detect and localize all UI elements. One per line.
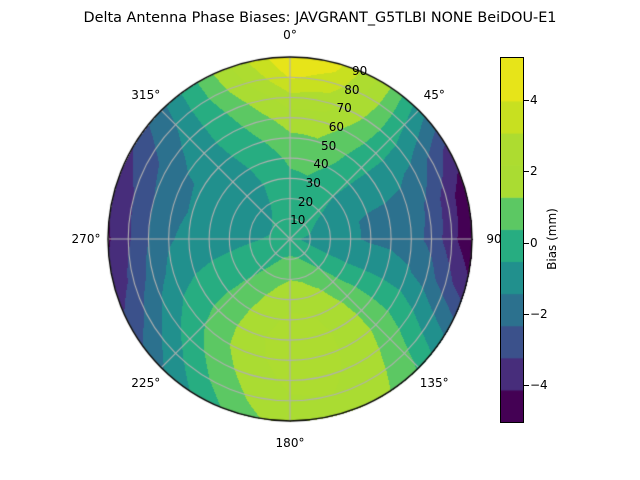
colorbar-tick-mark-3 — [523, 171, 529, 172]
radial-tick-10: 10 — [290, 213, 305, 227]
radial-tick-40: 40 — [313, 157, 328, 171]
colorbar-tick-label-4: 4 — [530, 93, 538, 107]
colorbar-axis-label: Bias (mm) — [545, 208, 559, 270]
colorbar-gradient — [500, 57, 524, 423]
angular-tick-0: 0° — [283, 28, 297, 42]
angular-tick-45: 45° — [424, 88, 445, 102]
angular-tick-225: 225° — [131, 376, 160, 390]
colorbar-tick-label-3: 2 — [530, 164, 538, 178]
angular-tick-135: 135° — [420, 376, 449, 390]
colorbar-tick-mark-2 — [523, 243, 529, 244]
colorbar-tick-mark-4 — [523, 100, 529, 101]
colorbar-tick-label-0: −4 — [530, 378, 548, 392]
angular-tick-270: 270° — [72, 232, 101, 246]
colorbar-tick-label-2: 0 — [530, 236, 538, 250]
radial-tick-70: 70 — [337, 101, 352, 115]
radial-tick-80: 80 — [344, 83, 359, 97]
radial-tick-30: 30 — [306, 176, 321, 190]
angular-tick-315: 315° — [131, 88, 160, 102]
radial-tick-60: 60 — [329, 120, 344, 134]
angular-tick-180: 180° — [276, 436, 305, 450]
polar-plot: 0°45°90135°180°225°270°315° 102030405060… — [0, 0, 640, 480]
colorbar-tick-mark-0 — [523, 385, 529, 386]
figure-canvas: Delta Antenna Phase Biases: JAVGRANT_G5T… — [0, 0, 640, 480]
colorbar: −4−2024 — [500, 57, 522, 421]
radial-tick-50: 50 — [321, 139, 336, 153]
radial-tick-20: 20 — [298, 195, 313, 209]
colorbar-tick-label-1: −2 — [530, 307, 548, 321]
colorbar-tick-mark-1 — [523, 314, 529, 315]
radial-tick-90: 90 — [352, 64, 367, 78]
